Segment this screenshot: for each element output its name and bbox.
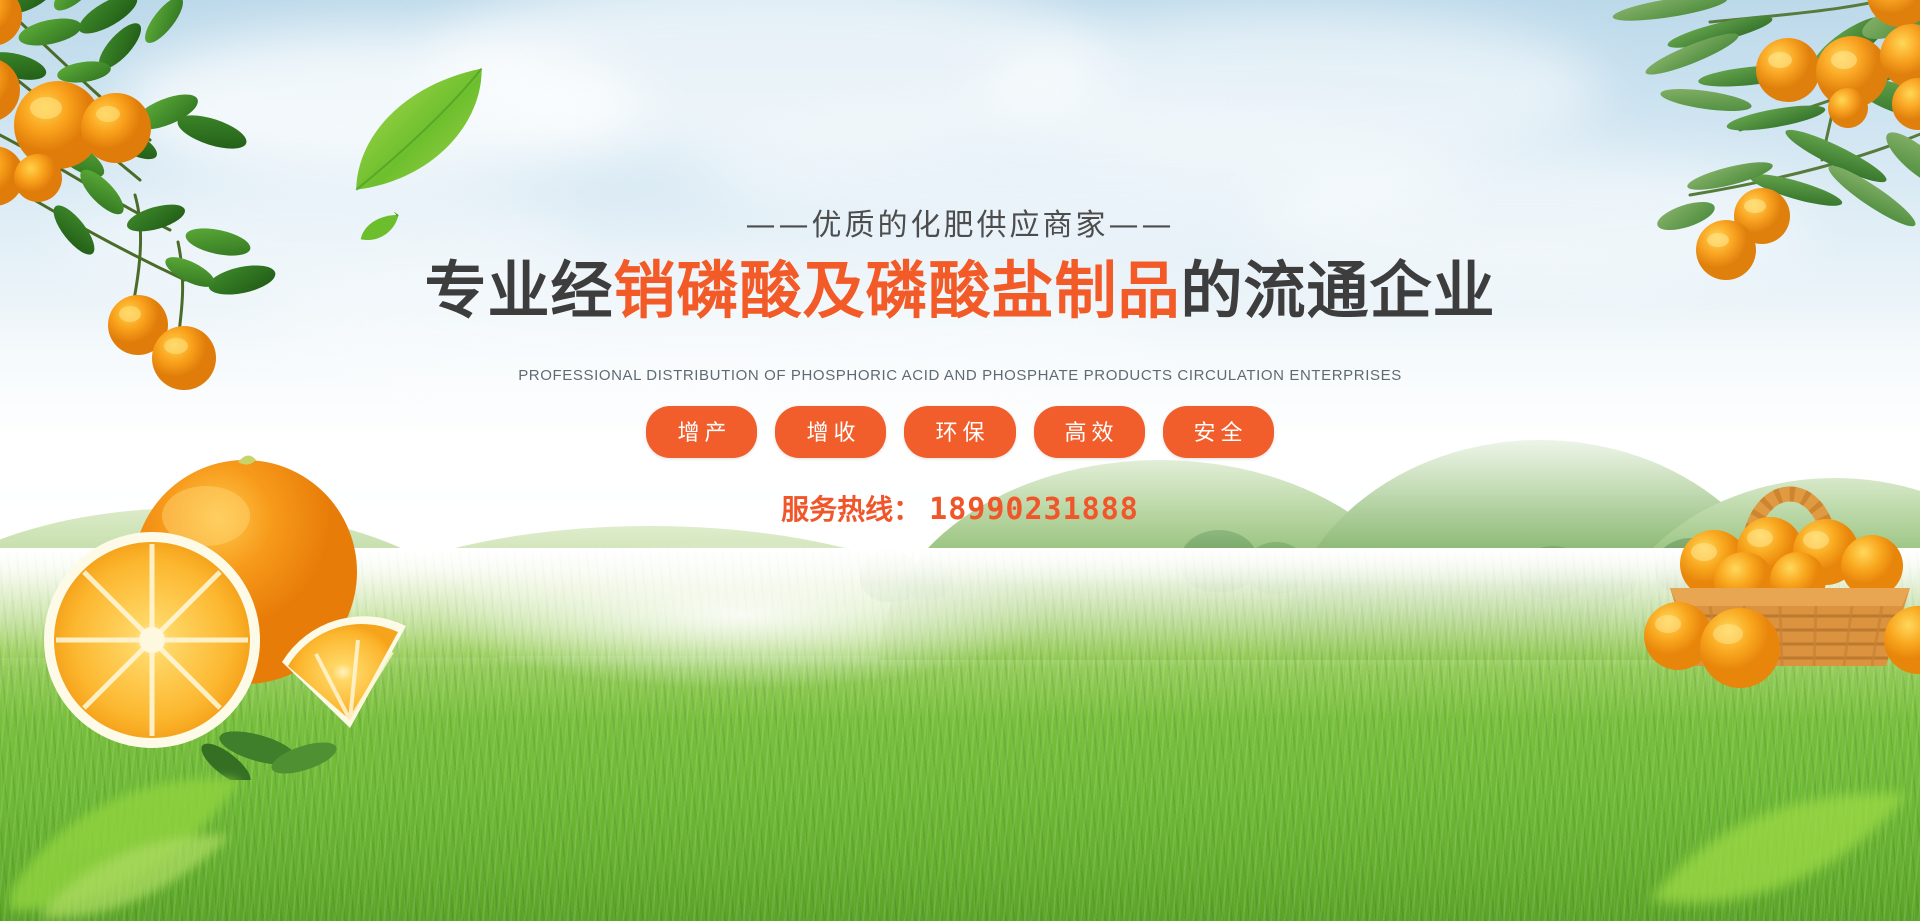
feature-tag-anquan[interactable]: 安全: [1163, 406, 1274, 458]
banner-copy: ——优质的化肥供应商家—— 专业经销磷酸及磷酸盐制品的流通企业 PROFESSI…: [0, 0, 1920, 528]
headline-lead: 专业经: [424, 254, 613, 327]
promo-banner: ——优质的化肥供应商家—— 专业经销磷酸及磷酸盐制品的流通企业 PROFESSI…: [0, 0, 1920, 921]
banner-subtitle-english: PROFESSIONAL DISTRIBUTION OF PHOSPHORIC …: [0, 367, 1920, 384]
foreground-leaf-left-icon: [10, 660, 310, 920]
field-light-glow: [430, 540, 1050, 690]
banner-headline: 专业经销磷酸及磷酸盐制品的流通企业: [0, 256, 1920, 325]
foreground-leaf-right-icon: [1640, 690, 1920, 921]
service-hotline: 服务热线：18990231888: [0, 488, 1920, 528]
headline-highlight: 销磷酸及磷酸盐制品: [613, 254, 1180, 327]
feature-tag-gaoxiao[interactable]: 高效: [1034, 406, 1145, 458]
headline-tail: 的流通企业: [1181, 254, 1496, 327]
feature-tag-zengchan[interactable]: 增产: [646, 406, 757, 458]
hotline-label: 服务热线：: [781, 493, 921, 526]
feature-tag-zengshou[interactable]: 增收: [775, 406, 886, 458]
hotline-number[interactable]: 18990231888: [929, 492, 1139, 527]
banner-eyebrow: ——优质的化肥供应商家——: [0, 200, 1920, 244]
feature-tag-list: 增产 增收 环保 高效 安全: [0, 406, 1920, 458]
feature-tag-huanbao[interactable]: 环保: [904, 406, 1015, 458]
